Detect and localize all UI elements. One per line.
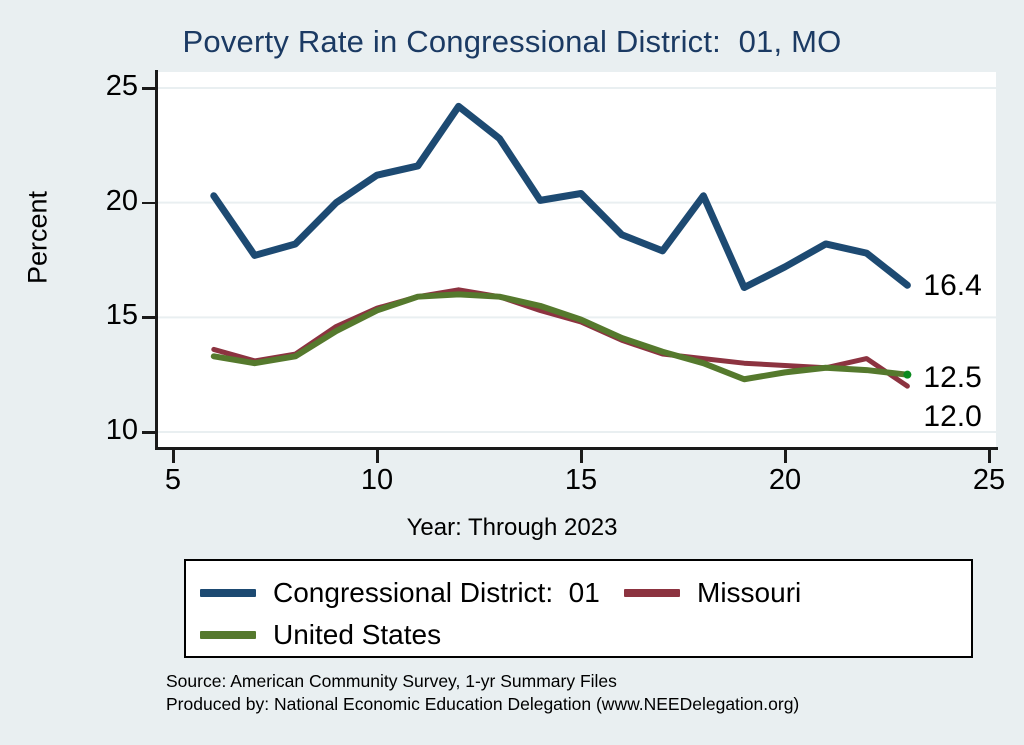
legend-item-0: Congressional District: 01 <box>200 579 600 607</box>
footer: Source: American Community Survey, 1-yr … <box>166 670 799 717</box>
footer-source: Source: American Community Survey, 1-yr … <box>166 670 799 693</box>
y-tick-label: 25 <box>78 72 138 101</box>
end-label-united-states: 12.5 <box>923 361 981 395</box>
x-tick-label: 15 <box>541 464 621 497</box>
series-line <box>214 106 908 287</box>
y-tick <box>142 431 156 434</box>
x-tick <box>784 449 787 463</box>
x-tick <box>580 449 583 463</box>
x-tick-label: 25 <box>949 464 1024 497</box>
y-tick <box>142 316 156 319</box>
y-tick-label: 10 <box>78 416 138 445</box>
legend-label-united-states: United States <box>273 621 441 649</box>
y-axis-line <box>155 70 158 450</box>
y-tick-label: 20 <box>78 187 138 216</box>
x-tick-label: 5 <box>133 464 213 497</box>
legend-swatch-missouri <box>624 589 680 597</box>
legend-item-1: Missouri <box>624 579 801 607</box>
y-axis-title: Percent <box>23 138 54 338</box>
legend-item-2: United States <box>200 621 441 649</box>
x-axis-title: Year: Through 2023 <box>0 514 1024 542</box>
plot-canvas <box>157 72 996 447</box>
x-tick <box>988 449 991 463</box>
x-tick-label: 20 <box>745 464 825 497</box>
y-tick <box>142 202 156 205</box>
end-label-congressional-district: 16.4 <box>923 269 981 303</box>
legend-swatch-congressional-district <box>200 589 256 597</box>
plot-area <box>157 72 996 447</box>
x-tick <box>172 449 175 463</box>
x-tick-label: 10 <box>337 464 417 497</box>
x-tick <box>376 449 379 463</box>
x-axis-line <box>155 447 998 450</box>
legend-label-missouri: Missouri <box>697 579 801 607</box>
y-tick <box>142 87 156 90</box>
legend-swatch-united-states <box>200 631 256 639</box>
y-tick-label: 15 <box>78 301 138 330</box>
legend: Congressional District: 01 Missouri Unit… <box>184 559 973 658</box>
footer-produced-by: Produced by: National Economic Education… <box>166 693 799 716</box>
legend-label-congressional-district: Congressional District: 01 <box>273 579 600 607</box>
series-end-marker <box>903 371 911 379</box>
page-title: Poverty Rate in Congressional District: … <box>0 24 1024 60</box>
end-label-missouri: 12.0 <box>923 400 981 434</box>
chart-figure: Poverty Rate in Congressional District: … <box>0 0 1024 745</box>
